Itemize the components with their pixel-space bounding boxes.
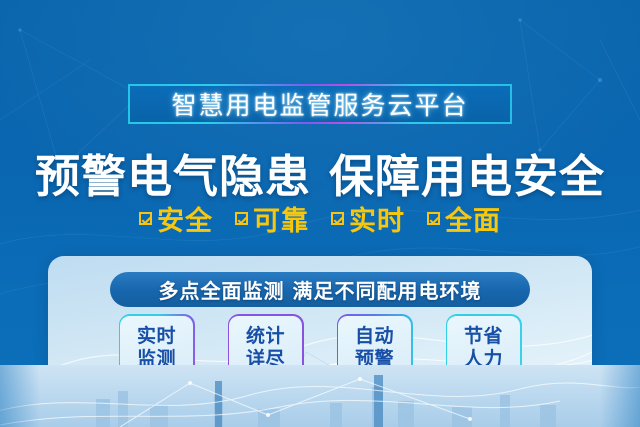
- platform-title-box: 智慧用电监管服务云平台: [128, 84, 512, 124]
- headline-part-1: 预警电气隐患: [35, 150, 311, 203]
- feature-check-list: 安全 可靠 实时 全面: [0, 199, 640, 238]
- feature-item-realtime: 实时: [331, 199, 405, 238]
- platform-title-inner: 智慧用电监管服务云平台: [130, 86, 510, 122]
- feature-card-line1: 统计: [246, 326, 285, 348]
- section-banner: 多点全面监测 满足不同配用电环境: [110, 272, 530, 307]
- feature-label: 安全: [157, 199, 213, 238]
- checkbox-checked-icon: [139, 212, 152, 225]
- headline-part-2: 保障用电安全: [329, 150, 605, 203]
- feature-card-line1: 实时: [137, 326, 176, 348]
- poster-root: 智慧用电监管服务云平台 预警电气隐患保障用电安全 安全 可靠 实时 全面: [0, 0, 640, 427]
- feature-item-reliable: 可靠: [235, 199, 309, 238]
- platform-title-text: 智慧用电监管服务云平台: [171, 86, 468, 122]
- feature-label: 可靠: [253, 199, 309, 238]
- feature-label: 全面: [445, 199, 501, 238]
- feature-label: 实时: [349, 199, 405, 238]
- page-headline: 预警电气隐患保障用电安全: [0, 140, 640, 205]
- feature-card-line1: 自动: [355, 326, 394, 348]
- section-banner-text: 多点全面监测 满足不同配用电环境: [159, 275, 482, 304]
- feature-item-comprehensive: 全面: [427, 199, 501, 238]
- feature-item-safety: 安全: [139, 199, 213, 238]
- checkbox-checked-icon: [235, 212, 248, 225]
- city-skyline-decoration: [0, 365, 640, 427]
- checkbox-checked-icon: [427, 212, 440, 225]
- checkbox-checked-icon: [331, 212, 344, 225]
- feature-card-line1: 节省: [464, 326, 503, 348]
